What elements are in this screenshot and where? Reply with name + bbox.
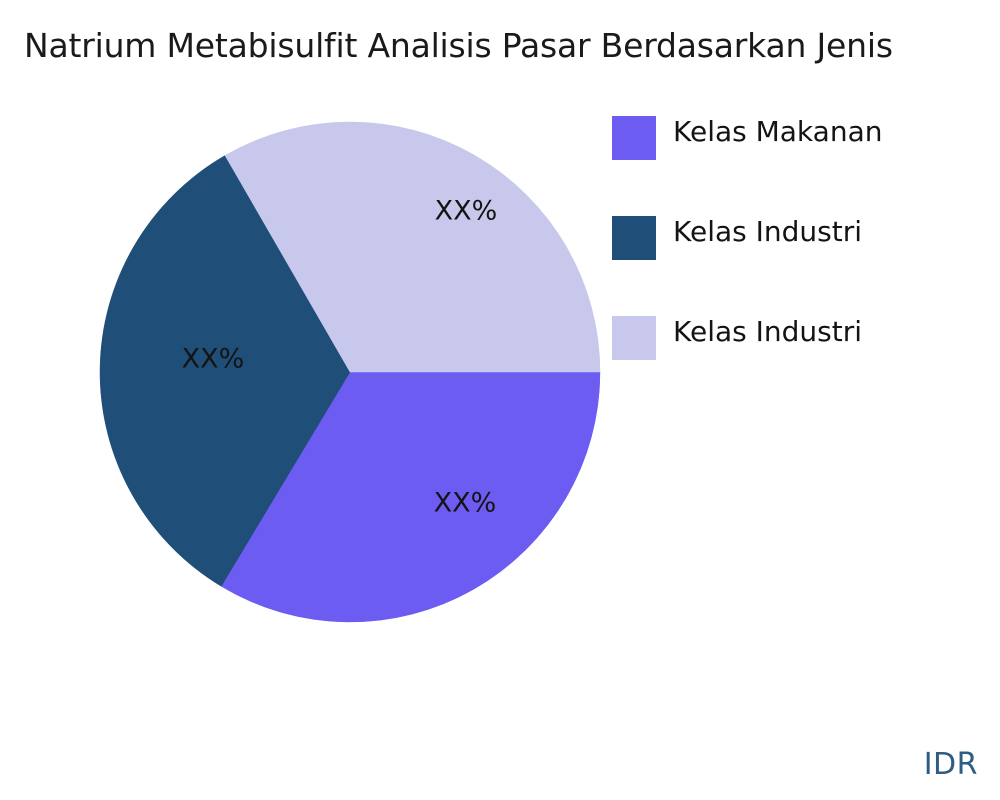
legend-item-0[interactable]: Kelas Makanan: [612, 110, 992, 210]
legend-swatch-icon: [612, 116, 656, 160]
legend-swatch-icon: [612, 316, 656, 360]
pie-slice-label: XX%: [434, 488, 497, 519]
legend-item-1[interactable]: Kelas Industri: [612, 210, 992, 310]
watermark-label: IDR: [924, 748, 978, 782]
legend-label: Kelas Industri: [673, 210, 862, 254]
pie-chart-figure: Natrium Metabisulfit Analisis Pasar Berd…: [0, 0, 1000, 800]
legend-swatch-icon: [612, 216, 656, 260]
pie-slice-group: [100, 122, 600, 622]
legend-label: Kelas Industri: [673, 310, 862, 354]
chart-legend: Kelas Makanan Kelas Industri Kelas Indus…: [612, 110, 992, 410]
pie-slice-label: XX%: [435, 196, 498, 227]
legend-item-2[interactable]: Kelas Industri: [612, 310, 992, 410]
legend-label: Kelas Makanan: [673, 110, 882, 154]
pie-slice-label: XX%: [182, 344, 245, 375]
